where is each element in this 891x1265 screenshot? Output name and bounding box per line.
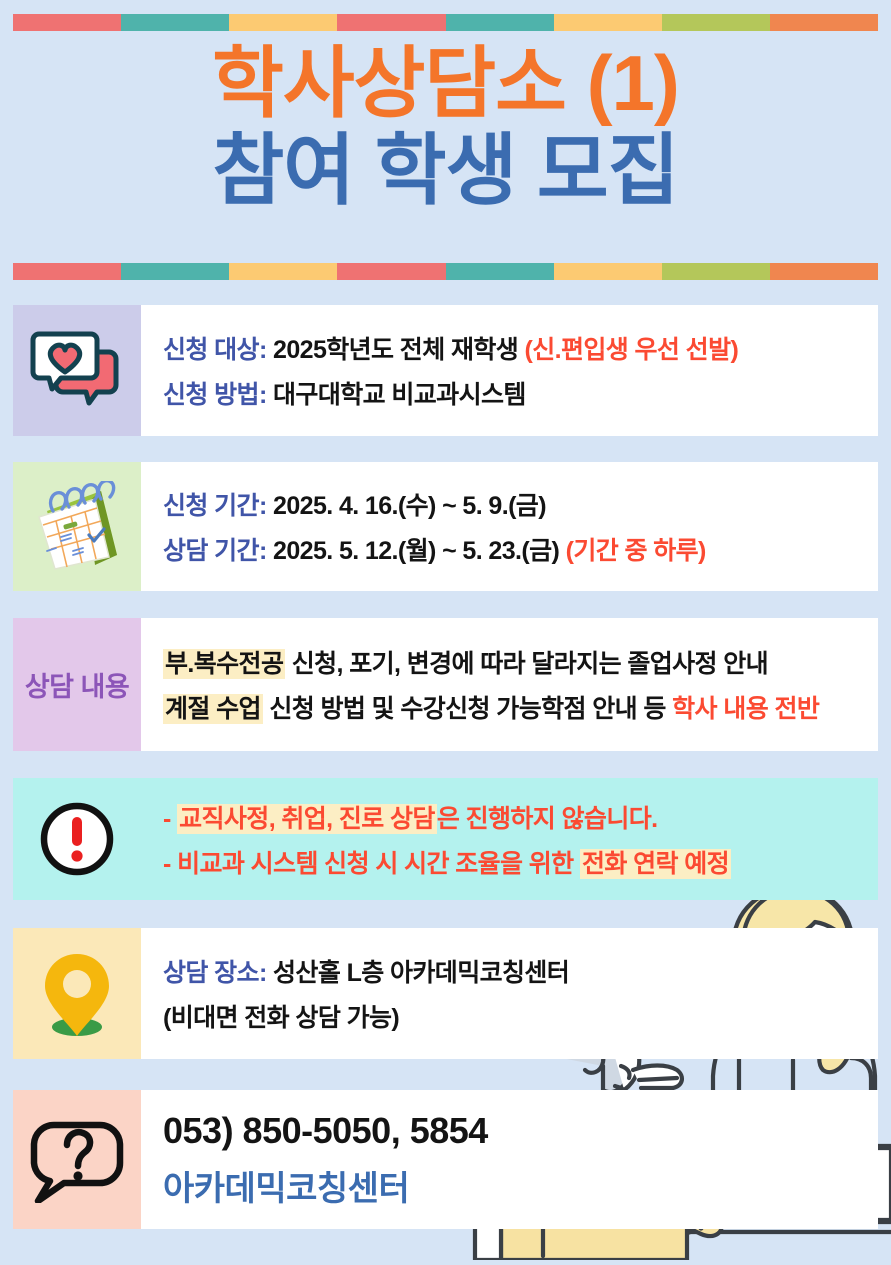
map-pin-icon [13,928,141,1059]
notice-text-2: 비교과 시스템 신청 시 시간 조율을 위한 [177,850,573,878]
notice-highlight-2: 전화 연락 예정 [580,849,731,879]
target-line-2: 신청 방법: 대구대학교 비교과시스템 [163,375,878,411]
info-row-notice: - 교직사정, 취업, 진로 상담은 진행하지 않습니다. - 비교과 시스템 … [13,778,878,900]
rule-segment [337,263,445,280]
color-rule-bottom [13,263,878,280]
content-side-label: 상담 내용 [13,618,141,751]
target-value-1: 2025학년도 전체 재학생 [273,336,518,364]
content-highlight-1: 부.복수전공 [163,649,285,679]
period-label-1: 신청 기간: [163,492,267,520]
contact-phone: 053) 850-5050, 5854 [163,1110,878,1152]
rule-segment [13,263,121,280]
info-row-notice-body: - 교직사정, 취업, 진로 상담은 진행하지 않습니다. - 비교과 시스템 … [141,778,878,900]
title-line-2: 참여 학생 모집 [0,127,891,214]
rule-segment [770,263,878,280]
speech-bubble-heart-icon [13,305,141,436]
notice-dash-1: - [163,805,171,833]
rule-segment [662,14,770,31]
rule-segment [229,14,337,31]
rule-segment [770,14,878,31]
info-row-contact-body: 053) 850-5050, 5854 아카데믹코칭센터 [141,1090,878,1229]
target-line-1: 신청 대상: 2025학년도 전체 재학생 (신.편입생 우선 선발) [163,330,878,366]
period-note-2: (기간 중 하루) [566,537,706,565]
period-value-2: 2025. 5. 12.(월) ~ 5. 23.(금) [273,537,559,565]
contact-office: 아카데믹코칭센터 [163,1161,878,1210]
rule-segment [121,263,229,280]
rule-segment [662,263,770,280]
place-line-1: 상담 장소: 성산홀 L층 아카데믹코칭센터 [163,953,878,989]
target-note-1: (신.편입생 우선 선발) [525,336,739,364]
info-row-target-body: 신청 대상: 2025학년도 전체 재학생 (신.편입생 우선 선발) 신청 방… [141,305,878,436]
exclamation-circle-icon [13,778,141,900]
rule-segment [121,14,229,31]
period-value-1: 2025. 4. 16.(수) ~ 5. 9.(금) [273,492,546,520]
place-line-2: (비대면 전화 상담 가능) [163,998,878,1034]
content-line-1: 부.복수전공 신청, 포기, 변경에 따라 달라지는 졸업사정 안내 [163,644,878,680]
rule-segment [229,263,337,280]
notice-line-2: - 비교과 시스템 신청 시 시간 조율을 위한 전화 연락 예정 [163,844,878,880]
info-row-content-body: 부.복수전공 신청, 포기, 변경에 따라 달라지는 졸업사정 안내 계절 수업… [141,618,878,751]
target-label-1: 신청 대상: [163,336,267,364]
info-row-target: 신청 대상: 2025학년도 전체 재학생 (신.편입생 우선 선발) 신청 방… [13,305,878,436]
rule-segment [446,14,554,31]
info-row-place: 상담 장소: 성산홀 L층 아카데믹코칭센터 (비대면 전화 상담 가능) [13,928,878,1059]
rule-segment [554,263,662,280]
place-value-1: 성산홀 L층 아카데믹코칭센터 [273,959,569,987]
info-row-content: 상담 내용 부.복수전공 신청, 포기, 변경에 따라 달라지는 졸업사정 안내… [13,618,878,751]
info-row-period: 신청 기간: 2025. 4. 16.(수) ~ 5. 9.(금) 상담 기간:… [13,462,878,591]
info-row-place-body: 상담 장소: 성산홀 L층 아카데믹코칭센터 (비대면 전화 상담 가능) [141,928,878,1059]
desk-calendar-icon [13,462,141,591]
rule-segment [13,14,121,31]
info-row-contact: 053) 850-5050, 5854 아카데믹코칭센터 [13,1090,878,1229]
notice-highlight-1: 교직사정, 취업, 진로 상담 [177,804,437,834]
rule-segment [337,14,445,31]
notice-dash-2: - [163,850,171,878]
title-line-1: 학사상담소 (1) [0,40,891,127]
target-value-2: 대구대학교 비교과시스템 [273,381,526,409]
period-line-2: 상담 기간: 2025. 5. 12.(월) ~ 5. 23.(금) (기간 중… [163,531,878,567]
content-text-1: 신청, 포기, 변경에 따라 달라지는 졸업사정 안내 [292,650,768,678]
color-rule-top [13,14,878,31]
info-row-period-body: 신청 기간: 2025. 4. 16.(수) ~ 5. 9.(금) 상담 기간:… [141,462,878,591]
period-line-1: 신청 기간: 2025. 4. 16.(수) ~ 5. 9.(금) [163,486,878,522]
notice-text-1: 은 진행하지 않습니다. [437,805,658,833]
notice-line-1: - 교직사정, 취업, 진로 상담은 진행하지 않습니다. [163,799,878,835]
question-bubble-icon [13,1090,141,1229]
rule-segment [446,263,554,280]
content-text-2: 신청 방법 및 수강신청 가능학점 안내 등 [269,695,665,723]
period-label-2: 상담 기간: [163,537,267,565]
target-label-2: 신청 방법: [163,381,267,409]
place-label-1: 상담 장소: [163,959,267,987]
content-side-label-text: 상담 내용 [25,665,129,704]
content-highlight-2: 계절 수업 [163,694,263,724]
rule-segment [554,14,662,31]
content-line-2: 계절 수업 신청 방법 및 수강신청 가능학점 안내 등 학사 내용 전반 [163,689,878,725]
content-emphasis-2: 학사 내용 전반 [672,695,819,723]
poster-title: 학사상담소 (1) 참여 학생 모집 [0,40,891,215]
